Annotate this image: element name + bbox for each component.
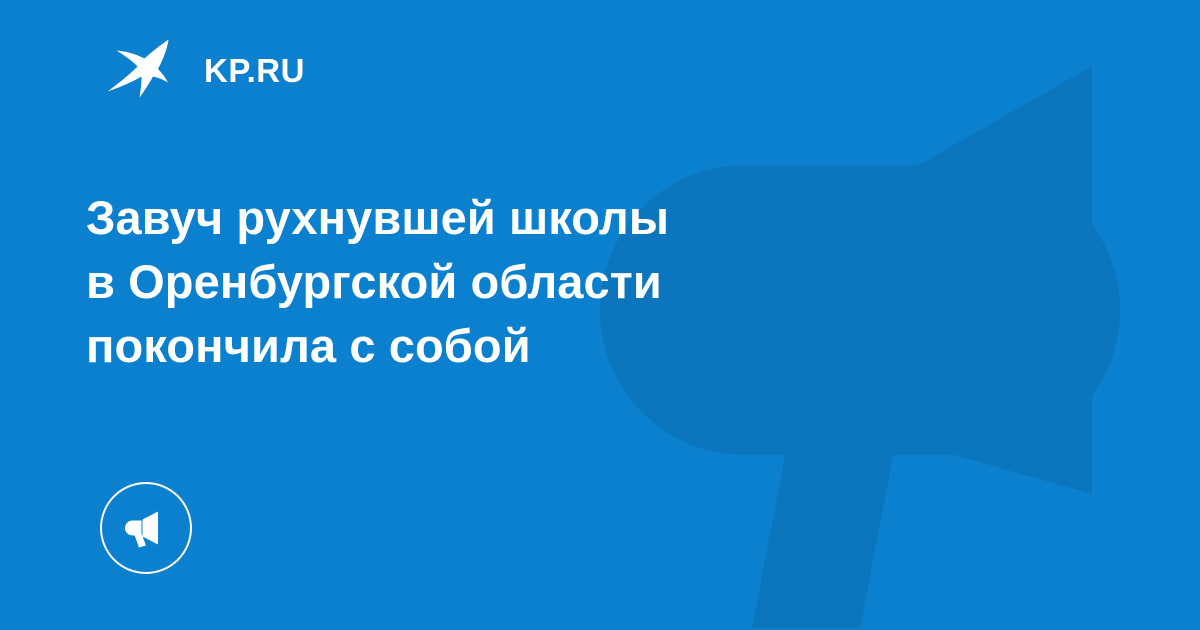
swallow-bird-icon bbox=[106, 37, 180, 103]
headline-line-1: Завуч рухнувшей школы bbox=[86, 186, 876, 250]
social-share-card: KP.RU Завуч рухнувшей школы в Оренбургск… bbox=[0, 0, 1200, 630]
page-title: Завуч рухнувшей школы в Оренбургской обл… bbox=[86, 186, 876, 378]
headline-line-2: в Оренбургской области bbox=[86, 250, 876, 314]
listen-audio-button[interactable] bbox=[100, 482, 192, 574]
brand-logo[interactable]: KP.RU bbox=[106, 34, 305, 106]
headline-line-3: покончила с собой bbox=[86, 314, 876, 378]
brand-wordmark: KP.RU bbox=[204, 54, 305, 87]
megaphone-icon bbox=[124, 506, 168, 550]
